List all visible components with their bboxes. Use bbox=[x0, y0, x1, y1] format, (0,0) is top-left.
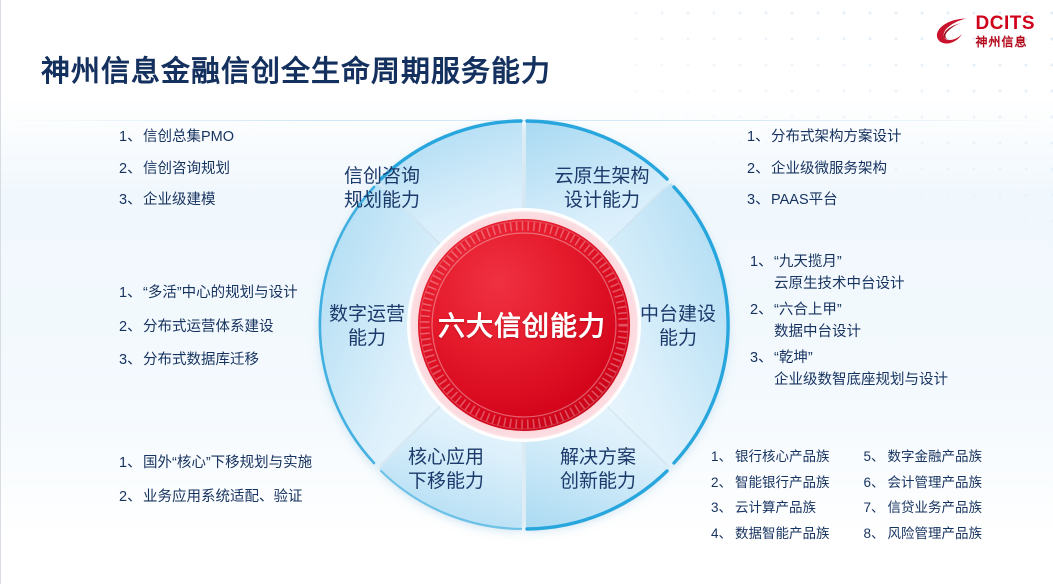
list-item-text: 数字金融产品族 bbox=[888, 450, 983, 464]
list-item: 3、 PAAS平台 bbox=[747, 193, 902, 208]
slide-canvas: DCITS 神州信息 神州信息金融信创全生命周期服务能力 bbox=[0, 0, 1053, 584]
list-item-text: 数据智能产品族 bbox=[735, 527, 830, 541]
list-item: 1、 分布式架构方案设计 bbox=[747, 130, 902, 145]
list-item: 3、 云计算产品族 bbox=[711, 501, 830, 515]
list-item: 1、 “多活”中心的规划与设计 bbox=[119, 286, 298, 301]
list-item: 3、 “乾坤” bbox=[750, 351, 948, 366]
list-item-number: 2、 bbox=[119, 162, 143, 177]
list-item: 2、 业务应用系统适配、验证 bbox=[119, 490, 312, 505]
list-item-number: 1、 bbox=[119, 456, 143, 471]
list-item-number: 2、 bbox=[119, 320, 143, 335]
list-item-text: 智能银行产品族 bbox=[735, 476, 830, 490]
list-item-number: 2、 bbox=[711, 476, 735, 490]
brand-logo-text: DCITS 神州信息 bbox=[976, 14, 1036, 48]
list-item-text: PAAS平台 bbox=[771, 193, 838, 208]
detail-block-top-right: 1、 分布式架构方案设计 2、 企业级微服务架构 3、 PAAS平台 bbox=[747, 130, 902, 225]
list-item: 7、 信贷业务产品族 bbox=[864, 501, 983, 515]
list-item-text: 企业级微服务架构 bbox=[771, 162, 887, 177]
list-item-number: 1、 bbox=[750, 255, 774, 270]
list-item-text: 云计算产品族 bbox=[735, 501, 816, 515]
list-item-number: 1、 bbox=[711, 450, 735, 464]
detail-block-middle-left: 1、 “多活”中心的规划与设计 2、 分布式运营体系建设 3、 分布式数据库迁移 bbox=[119, 286, 298, 387]
list-item-text: 银行核心产品族 bbox=[735, 450, 830, 464]
list-item-text: 信创总集PMO bbox=[143, 130, 234, 145]
center-core-circle[interactable] bbox=[418, 219, 630, 431]
list-item-number: 2、 bbox=[750, 303, 774, 318]
list-item-number: 3、 bbox=[119, 193, 143, 208]
list-item-number: 7、 bbox=[864, 501, 888, 515]
list-item-number: 3、 bbox=[747, 193, 771, 208]
list-item-number: 4、 bbox=[711, 527, 735, 541]
list-item-subtext: 云原生技术中台设计 bbox=[750, 277, 948, 292]
brand-logo-en: DCITS bbox=[976, 14, 1036, 33]
list-item-text: 企业级建模 bbox=[143, 193, 216, 208]
list-item: 3、 分布式数据库迁移 bbox=[119, 353, 298, 368]
list-item-number: 6、 bbox=[864, 476, 888, 490]
list-item-text: 信贷业务产品族 bbox=[888, 501, 983, 515]
list-item-text: “乾坤” bbox=[774, 351, 813, 366]
list-item: 1、 信创总集PMO bbox=[119, 130, 234, 145]
list-item-subtext: 数据中台设计 bbox=[750, 325, 948, 340]
detail-block-middle-right: 1、 “九天揽月” 云原生技术中台设计 2、 “六合上甲” 数据中台设计 3、 … bbox=[750, 255, 948, 399]
product-column-right: 5、 数字金融产品族 6、 会计管理产品族 7、 信贷业务产品族 8、 风险管理… bbox=[864, 450, 983, 552]
list-item-text: 分布式数据库迁移 bbox=[143, 353, 259, 368]
list-item-number: 1、 bbox=[747, 130, 771, 145]
list-item-text: 分布式架构方案设计 bbox=[771, 130, 902, 145]
list-item: 1、 银行核心产品族 bbox=[711, 450, 830, 464]
list-item: 4、 数据智能产品族 bbox=[711, 527, 830, 541]
detail-block-top-left: 1、 信创总集PMO 2、 信创咨询规划 3、 企业级建模 bbox=[119, 130, 234, 225]
list-item-text: “多活”中心的规划与设计 bbox=[143, 286, 298, 301]
list-item: 8、 风险管理产品族 bbox=[864, 527, 983, 541]
list-item: 3、 企业级建模 bbox=[119, 193, 234, 208]
list-item: 2、 智能银行产品族 bbox=[711, 476, 830, 490]
list-item: 1、 “九天揽月” bbox=[750, 255, 948, 270]
product-column-left: 1、 银行核心产品族 2、 智能银行产品族 3、 云计算产品族 4、 数据智能产… bbox=[711, 450, 830, 552]
list-item-number: 5、 bbox=[864, 450, 888, 464]
list-item-number: 8、 bbox=[864, 527, 888, 541]
list-item-number: 2、 bbox=[747, 162, 771, 177]
list-item-number: 3、 bbox=[119, 353, 143, 368]
detail-block-bottom-right: 1、 银行核心产品族 2、 智能银行产品族 3、 云计算产品族 4、 数据智能产… bbox=[711, 450, 982, 552]
list-item: 5、 数字金融产品族 bbox=[864, 450, 983, 464]
list-item-text: 风险管理产品族 bbox=[888, 527, 983, 541]
list-item: 2、 “六合上甲” bbox=[750, 303, 948, 318]
dcits-swoosh-logo-icon bbox=[935, 16, 969, 46]
brand-logo: DCITS 神州信息 bbox=[935, 14, 1036, 48]
list-item-number: 3、 bbox=[711, 501, 735, 515]
capability-donut-diagram bbox=[297, 103, 747, 545]
list-item: 1、 国外“核心”下移规划与实施 bbox=[119, 456, 312, 471]
list-item: 2、 信创咨询规划 bbox=[119, 162, 234, 177]
list-item: 2、 企业级微服务架构 bbox=[747, 162, 902, 177]
list-item-subtext: 企业级数智底座规划与设计 bbox=[750, 373, 948, 388]
list-item-text: 国外“核心”下移规划与实施 bbox=[143, 456, 312, 471]
list-item-number: 3、 bbox=[750, 351, 774, 366]
list-item-text: 信创咨询规划 bbox=[143, 162, 230, 177]
list-item-text: “九天揽月” bbox=[774, 255, 842, 270]
list-item-number: 1、 bbox=[119, 130, 143, 145]
brand-logo-cn: 神州信息 bbox=[976, 36, 1036, 48]
list-item: 2、 分布式运营体系建设 bbox=[119, 320, 298, 335]
list-item-number: 1、 bbox=[119, 286, 143, 301]
list-item-number: 2、 bbox=[119, 490, 143, 505]
list-item-text: 分布式运营体系建设 bbox=[143, 320, 274, 335]
list-item-text: “六合上甲” bbox=[774, 303, 842, 318]
detail-block-bottom-left: 1、 国外“核心”下移规划与实施 2、 业务应用系统适配、验证 bbox=[119, 456, 312, 523]
list-item-text: 业务应用系统适配、验证 bbox=[143, 490, 303, 505]
list-item: 6、 会计管理产品族 bbox=[864, 476, 983, 490]
page-title: 神州信息金融信创全生命周期服务能力 bbox=[41, 48, 551, 90]
list-item-text: 会计管理产品族 bbox=[888, 476, 983, 490]
